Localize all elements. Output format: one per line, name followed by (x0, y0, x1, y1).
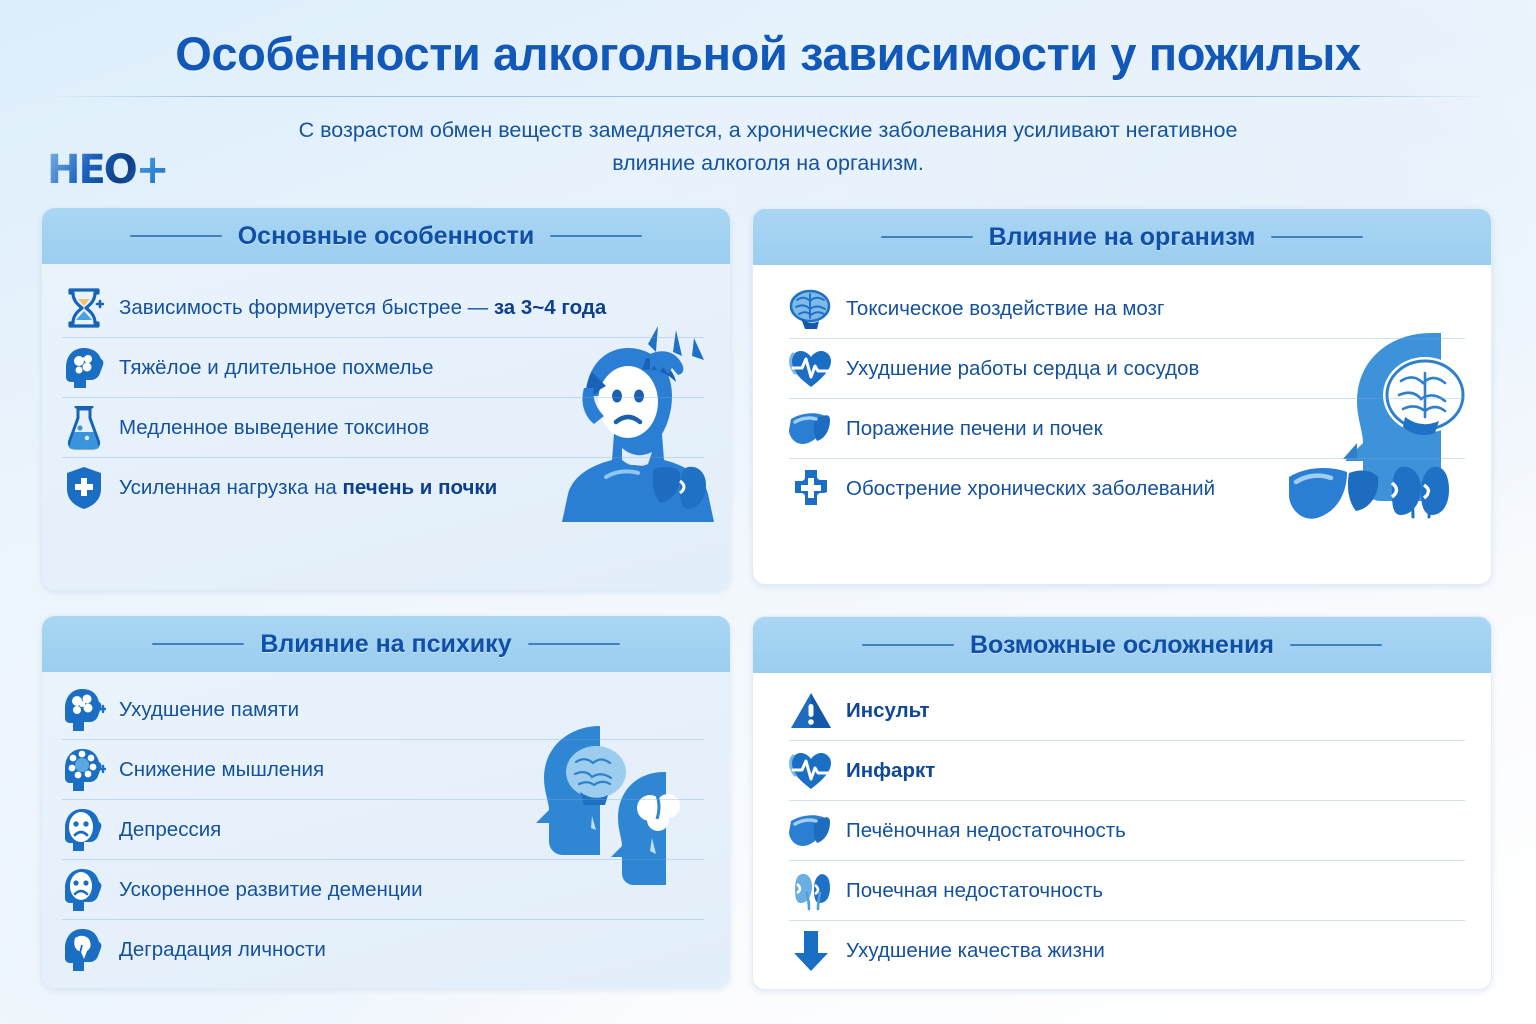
header-rule-left (130, 235, 222, 237)
list-item-label: Депрессия (119, 818, 221, 842)
list-item: Деградация личности (62, 919, 704, 979)
card-main-features: Основные особенности (42, 208, 730, 590)
warning-triangle-icon (789, 689, 833, 733)
list-item-label: Зависимость формируется быстрее — за 3~4… (119, 296, 606, 320)
list-item-label: Тяжёлое и длительное похмелье (119, 356, 434, 380)
head-gear-icon (62, 748, 106, 792)
card-title: Влияние на организм (989, 223, 1256, 252)
card-mental-impact: Влияние на психику (42, 616, 730, 988)
list-item-label: Ухудшение памяти (119, 698, 299, 722)
cross-medical-icon (789, 467, 833, 511)
list-item-label: Ухудшение качества жизни (846, 939, 1105, 963)
list-item-label: Ухудшение работы сердца и сосудов (846, 357, 1199, 381)
head-dementia-icon (62, 868, 106, 912)
card-complications: Возможные осложнения Инсульт (752, 616, 1492, 990)
brain-icon (789, 287, 833, 331)
flask-icon (62, 406, 106, 450)
header-rule-right (550, 235, 642, 237)
page-subtitle: С возрастом обмен веществ замедляется, а… (258, 114, 1278, 180)
logo-plus: + (136, 147, 168, 193)
card-body: Зависимость формируется быстрее — за 3~4… (42, 264, 730, 535)
head-memory-icon (62, 688, 106, 732)
head-degradation-icon (62, 928, 106, 972)
list-item-label: Поражение печени и почек (846, 417, 1103, 441)
brand-logo: НЕО+ (47, 150, 167, 190)
list-item: Печёночная недостаточность (789, 800, 1465, 860)
liver-icon (789, 407, 833, 451)
list-item: Токсическое воздействие на мозг (789, 279, 1465, 338)
card-body: Ухудшение памяти (42, 672, 730, 988)
arrow-down-icon (789, 929, 833, 973)
header-rule-left (152, 643, 244, 645)
card-header: Возможные осложнения (753, 617, 1491, 673)
list-item-label: Инфаркт (846, 759, 935, 783)
infographic-page: Особенности алкогольной зависимости у по… (0, 0, 1536, 1024)
list-item: Ухудшение памяти (62, 680, 704, 739)
list-item: Почечная недостаточность (789, 860, 1465, 920)
list-item-label: Обострение хронических заболеваний (846, 477, 1215, 501)
list-item: Инсульт (789, 681, 1465, 740)
hourglass-icon (62, 286, 106, 330)
head-brain-icon (62, 346, 106, 390)
header-rule-left (862, 644, 954, 646)
header-rule-right (1290, 644, 1382, 646)
list-item: Снижение мышления (62, 739, 704, 799)
page-title: Особенности алкогольной зависимости у по… (0, 26, 1536, 81)
list-item-label: Деградация личности (119, 938, 326, 962)
list-item: Ухудшение качества жизни (789, 920, 1465, 980)
liver-icon (789, 809, 833, 853)
list-item: Поражение печени и почек (789, 398, 1465, 458)
kidneys-icon (789, 869, 833, 913)
head-sad-icon (62, 808, 106, 852)
card-body: Инсульт Инфаркт (753, 673, 1491, 990)
list-item: Зависимость формируется быстрее — за 3~4… (62, 278, 704, 337)
list-item: Обострение хронических заболеваний (789, 458, 1465, 518)
card-body-impact: Влияние на организм (752, 208, 1492, 585)
heart-pulse-icon (789, 347, 833, 391)
list-item: Инфаркт (789, 740, 1465, 800)
logo-text: НЕО (47, 147, 136, 193)
list-item: Усиленная нагрузка на печень и почки (62, 457, 704, 517)
list-item: Тяжёлое и длительное похмелье (62, 337, 704, 397)
list-item-label: Почечная недостаточность (846, 879, 1103, 903)
list-item: Депрессия (62, 799, 704, 859)
title-divider (45, 96, 1491, 97)
header-rule-right (1271, 236, 1363, 238)
list-item: Ухудшение работы сердца и сосудов (789, 338, 1465, 398)
list-item-label: Токсическое воздействие на мозг (846, 297, 1164, 321)
list-item-label: Инсульт (846, 699, 930, 723)
card-body: Токсическое воздействие на мозг Ухудшени… (753, 265, 1491, 536)
shield-cross-icon (62, 466, 106, 510)
header-rule-right (528, 643, 620, 645)
card-header: Влияние на организм (753, 209, 1491, 265)
list-item: Медленное выведение токсинов (62, 397, 704, 457)
list-item-label: Печёночная недостаточность (846, 819, 1126, 843)
list-item-label: Ускоренное развитие деменции (119, 878, 423, 902)
heart-pulse-icon (789, 749, 833, 793)
list-item-label: Усиленная нагрузка на печень и почки (119, 476, 497, 500)
list-item: Ускоренное развитие деменции (62, 859, 704, 919)
list-item-label: Снижение мышления (119, 758, 324, 782)
list-item-label: Медленное выведение токсинов (119, 416, 429, 440)
header-rule-left (881, 236, 973, 238)
card-title: Влияние на психику (260, 630, 511, 659)
card-header: Основные особенности (42, 208, 730, 264)
card-title: Возможные осложнения (970, 631, 1274, 660)
card-title: Основные особенности (238, 222, 535, 251)
card-header: Влияние на психику (42, 616, 730, 672)
